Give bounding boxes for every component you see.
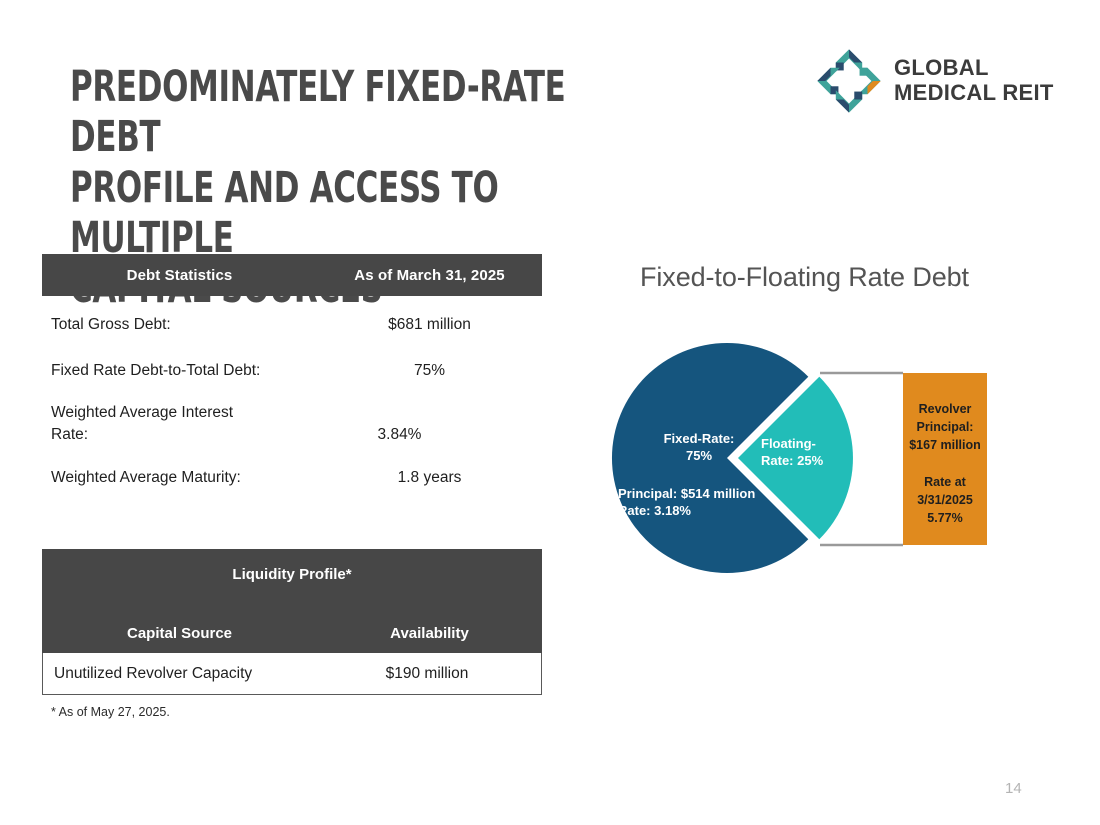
stat-label: Total Gross Debt: xyxy=(42,314,317,336)
logo-wordmark: GLOBAL MEDICAL REIT xyxy=(894,56,1054,105)
stat-label: Fixed Rate Debt-to-Total Debt: xyxy=(42,360,317,382)
table-row: Fixed Rate Debt-to-Total Debt: 75% xyxy=(42,360,542,382)
debt-statistics-header-col1: Debt Statistics xyxy=(42,267,317,284)
stat-value: 3.84% xyxy=(257,402,542,446)
page-number: 14 xyxy=(1005,780,1022,797)
table-row: Unutilized Revolver Capacity $190 millio… xyxy=(42,653,542,695)
liquidity-header-col1: Capital Source xyxy=(42,625,317,642)
liquidity-profile-table: Liquidity Profile* Capital Source Availa… xyxy=(42,549,542,695)
capital-source-value: Unutilized Revolver Capacity xyxy=(43,665,313,683)
availability-value: $190 million xyxy=(313,665,541,683)
table-row: Weighted Average Maturity: 1.8 years xyxy=(42,467,542,489)
stat-value: $681 million xyxy=(317,314,542,336)
stat-value: 1.8 years xyxy=(317,467,542,489)
brand-logo: GLOBAL MEDICAL REIT xyxy=(816,48,1054,114)
liquidity-profile-header: Liquidity Profile* Capital Source Availa… xyxy=(42,549,542,653)
stat-label: Weighted Average Interest Rate: xyxy=(42,402,257,446)
table-row: Weighted Average Interest Rate: 3.84% xyxy=(42,402,542,446)
stat-value: 75% xyxy=(317,360,542,382)
liquidity-header-col2: Availability xyxy=(317,625,542,642)
liquidity-profile-title: Liquidity Profile* xyxy=(42,566,542,583)
global-medical-reit-logo-icon xyxy=(816,48,882,114)
debt-statistics-table: Debt Statistics As of March 31, 2025 Tot… xyxy=(42,254,542,489)
revolver-callout-text: Revolver Principal: $167 million Rate at… xyxy=(903,400,987,527)
chart-title: Fixed-to-Floating Rate Debt xyxy=(640,262,969,293)
debt-statistics-header-col2: As of March 31, 2025 xyxy=(317,267,542,284)
fixed-to-floating-rate-debt-chart: Fixed-Rate: 75% Principal: $514 million … xyxy=(598,330,1018,590)
stat-label: Weighted Average Maturity: xyxy=(42,467,317,489)
revolver-callout-box: Revolver Principal: $167 million Rate at… xyxy=(903,373,987,545)
liquidity-footnote: * As of May 27, 2025. xyxy=(51,705,170,719)
debt-statistics-header: Debt Statistics As of March 31, 2025 xyxy=(42,254,542,296)
slide: PREDOMINATELY FIXED-RATE DEBT PROFILE AN… xyxy=(0,0,1100,825)
table-row: Total Gross Debt: $681 million xyxy=(42,314,542,336)
